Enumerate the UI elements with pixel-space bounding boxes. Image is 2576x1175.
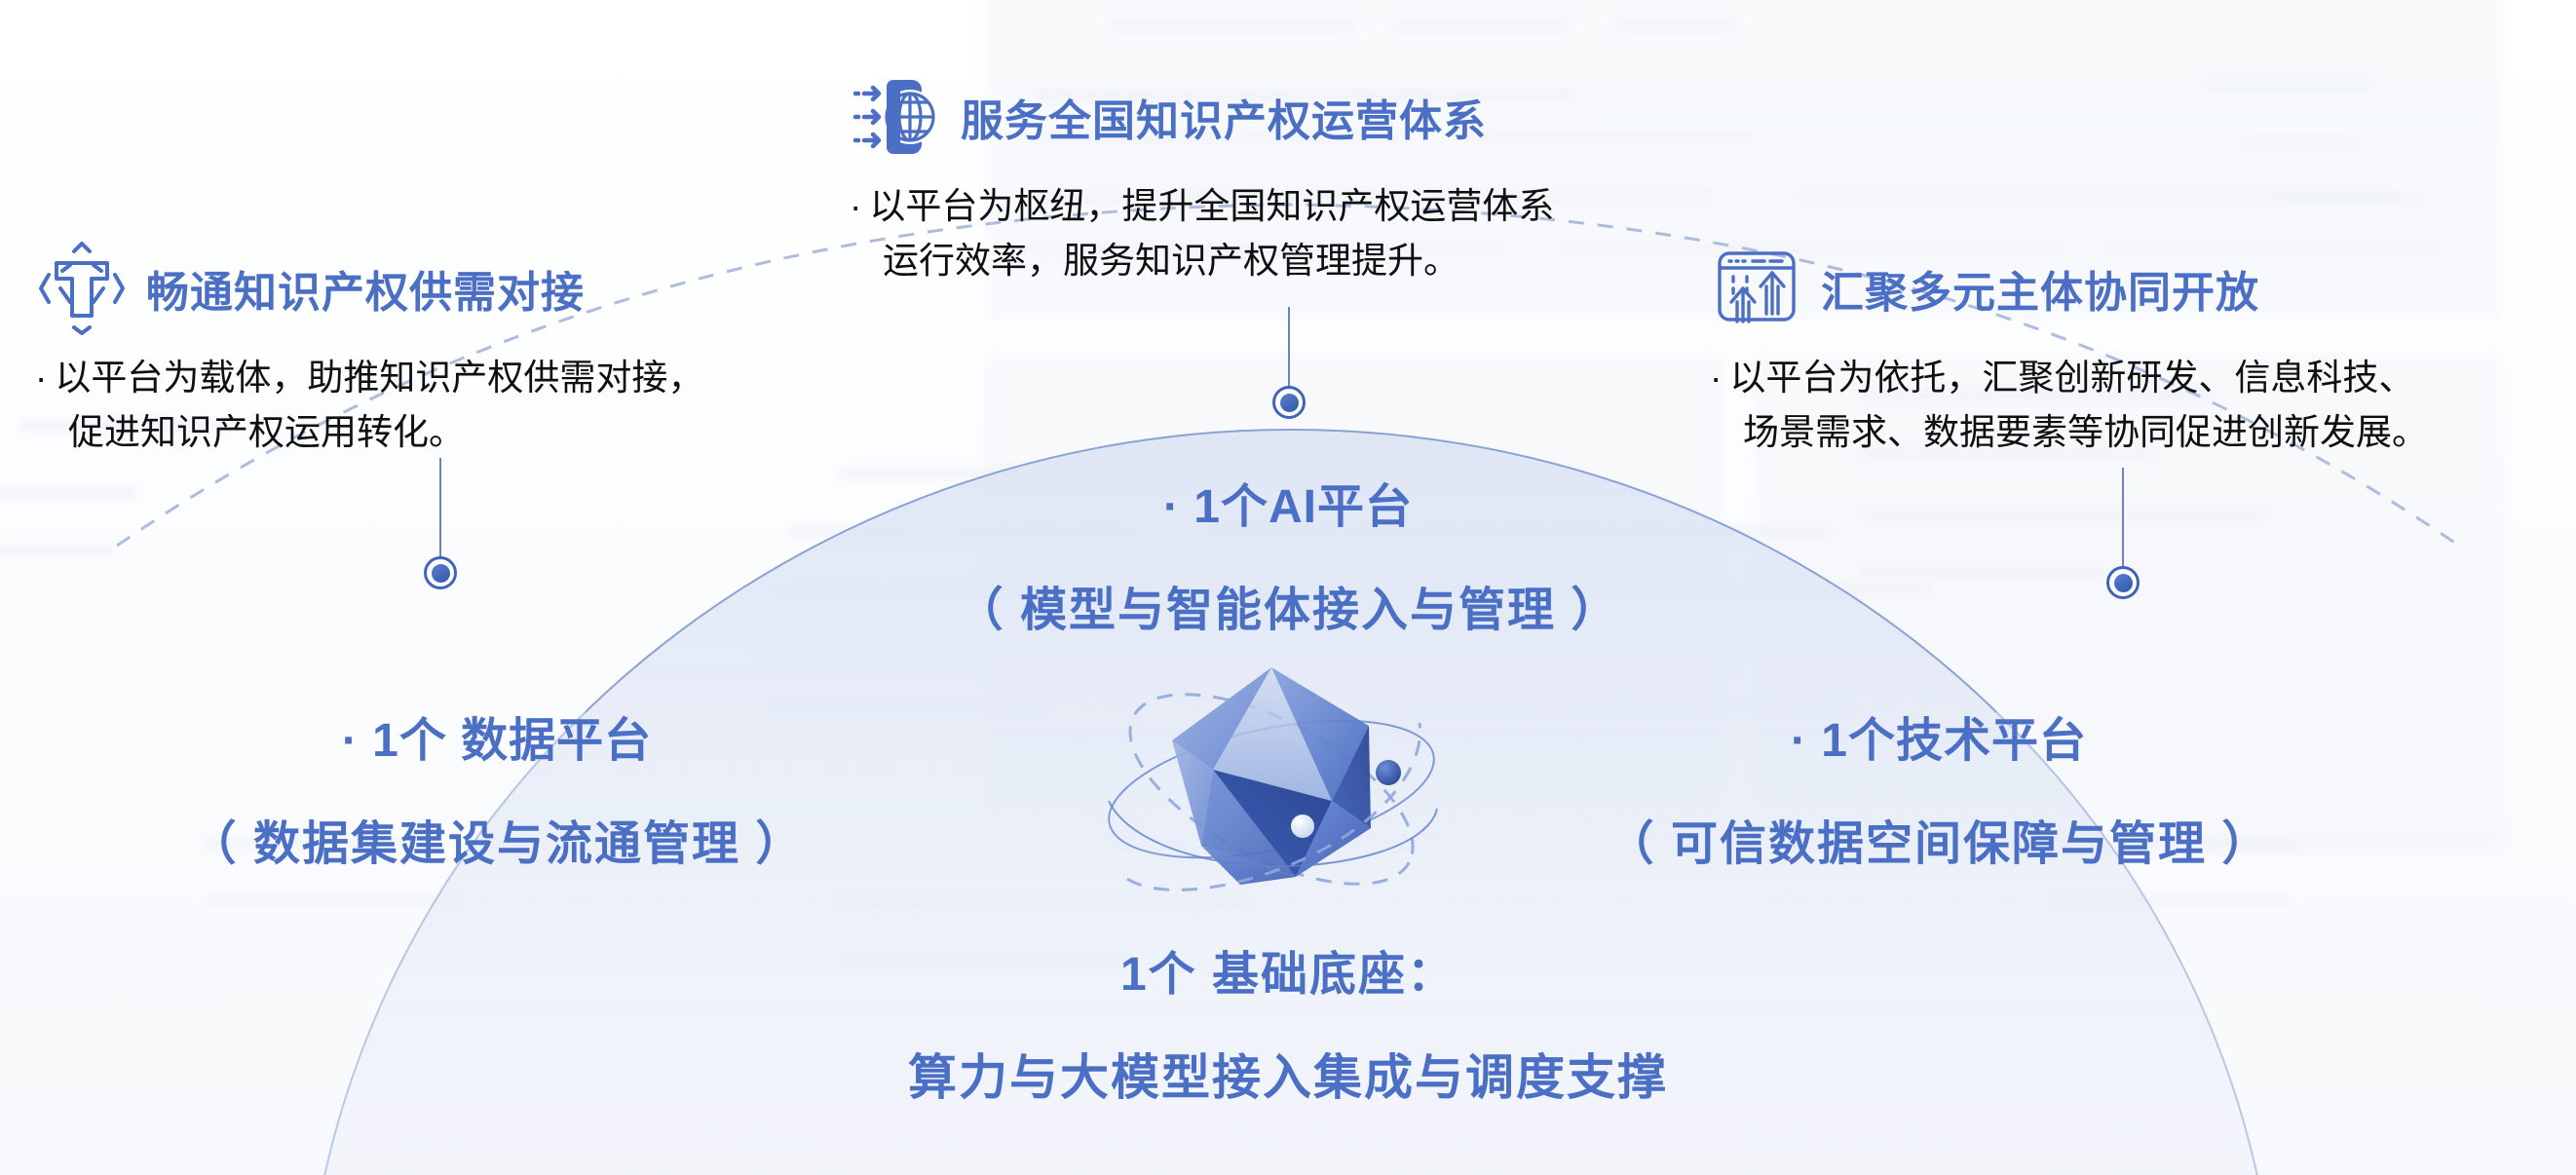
callout-body-line1: ·以平台为载体，助推知识产权供需对接，	[35, 351, 703, 405]
bullet-marker: ·	[1710, 358, 1722, 398]
connector-node-right	[2106, 566, 2140, 599]
polyhedron-core-graphic	[1077, 633, 1466, 955]
callout-multi-party-open: 汇聚多元主体协同开放 ·以平台为依托，汇聚创新研发、信息科技、 场景需求、数据要…	[1710, 242, 2428, 459]
platform-tech: · 1个技术平台 （ 可信数据空间保障与管理 ）	[1549, 701, 2329, 873]
platform-data-title: · 1个 数据平台	[136, 701, 857, 770]
callout-text-line1: 以平台为依托，汇聚创新研发、信息科技、	[1729, 358, 2414, 398]
platform-data: · 1个 数据平台 （ 数据集建设与流通管理 ）	[136, 701, 857, 873]
bullet-marker: ·	[35, 358, 47, 398]
callout-title: 汇聚多元主体协同开放	[1821, 257, 2259, 320]
connector-node-left	[424, 556, 457, 589]
platform-data-subtitle: （ 数据集建设与流通管理 ）	[136, 805, 857, 873]
callout-national-operation: 服务全国知识产权运营体系 ·以平台为枢纽，提升全国知识产权运营体系 运行效率，服…	[850, 70, 1554, 287]
callout-title: 服务全国知识产权运营体系	[961, 86, 1487, 148]
mobile-globe-icon	[850, 70, 943, 164]
callout-body: ·以平台为枢纽，提升全国知识产权运营体系 运行效率，服务知识产权管理提升。	[850, 179, 1554, 287]
base-subtitle: 算力与大模型接入集成与调度支撑	[0, 1039, 2576, 1109]
platform-ai-subtitle: （ 模型与智能体接入与管理 ）	[0, 571, 2576, 639]
callout-text-line2: 促进知识产权运用转化。	[35, 405, 703, 460]
expand-distribute-icon	[35, 242, 129, 335]
callout-body-line1: ·以平台为枢纽，提升全国知识产权运营体系	[850, 179, 1554, 234]
callout-header: 汇聚多元主体协同开放	[1710, 242, 2428, 335]
platform-tech-title: · 1个技术平台	[1549, 701, 2329, 770]
bullet-marker: ·	[850, 186, 861, 226]
callout-body-line1: ·以平台为依托，汇聚创新研发、信息科技、	[1710, 351, 2428, 405]
polyhedron-solid	[1172, 667, 1371, 885]
callout-text-line1: 以平台为载体，助推知识产权供需对接，	[55, 358, 703, 398]
callout-header: 服务全国知识产权运营体系	[850, 70, 1554, 164]
dashboard-growth-icon	[1710, 242, 1803, 335]
callout-body: ·以平台为依托，汇聚创新研发、信息科技、 场景需求、数据要素等协同促进创新发展。	[1710, 351, 2428, 459]
platform-ai-title: · 1个AI平台	[0, 468, 2576, 536]
platform-tech-subtitle: （ 可信数据空间保障与管理 ）	[1549, 805, 2329, 873]
connector-stem-center	[1288, 307, 1290, 390]
callout-supply-demand: 畅通知识产权供需对接 ·以平台为载体，助推知识产权供需对接， 促进知识产权运用转…	[35, 242, 703, 459]
base-title: 1个 基础底座：	[0, 935, 2576, 1004]
base-foundation-block: 1个 基础底座： 算力与大模型接入集成与调度支撑	[0, 935, 2576, 1109]
connector-node-center	[1272, 386, 1306, 419]
callout-text-line2: 场景需求、数据要素等协同促进创新发展。	[1710, 405, 2428, 460]
orbit-node-light	[1291, 815, 1314, 838]
callout-body: ·以平台为载体，助推知识产权供需对接， 促进知识产权运用转化。	[35, 351, 703, 459]
callout-text-line1: 以平台为枢纽，提升全国知识产权运营体系	[869, 186, 1554, 226]
platform-ai: · 1个AI平台 （ 模型与智能体接入与管理 ）	[0, 468, 2576, 639]
callout-title: 畅通知识产权供需对接	[146, 257, 585, 320]
callout-header: 畅通知识产权供需对接	[35, 242, 703, 335]
orbit-node-dark	[1376, 760, 1401, 785]
callout-text-line2: 运行效率，服务知识产权管理提升。	[850, 234, 1554, 288]
